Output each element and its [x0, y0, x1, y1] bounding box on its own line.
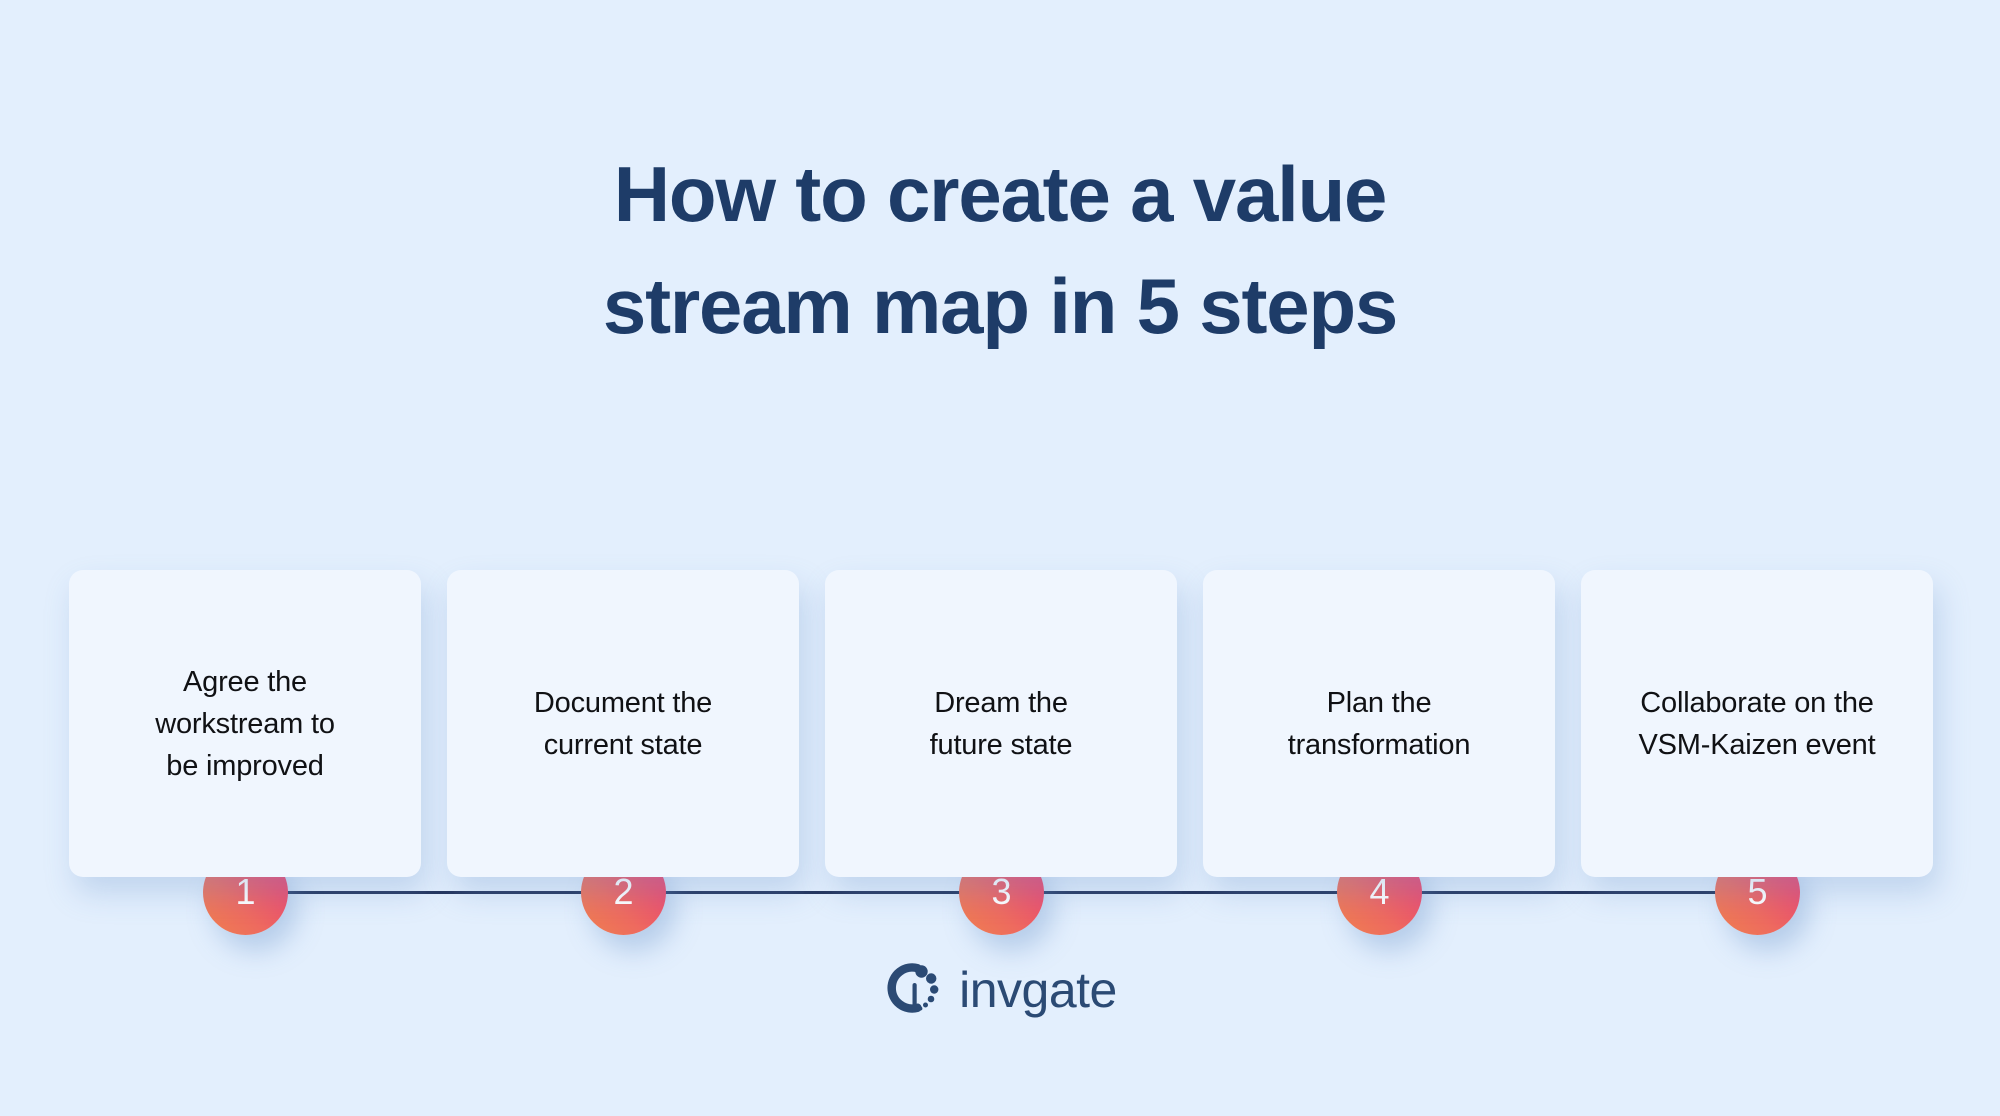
step-card-4-line-1: Plan the: [1327, 687, 1432, 719]
page-title: How to create a value stream map in 5 st…: [0, 138, 2000, 362]
step-card-5-text: Collaborate on the VSM-Kaizen event: [1639, 682, 1876, 766]
step-card-1[interactable]: Agree the workstream to be improved: [69, 570, 421, 877]
step-card-5-line-2: VSM-Kaizen event: [1639, 729, 1876, 761]
step-card-3-line-2: future state: [930, 729, 1073, 761]
step-card-1-line-1: Agree the: [183, 666, 307, 698]
step-card-1-line-2: workstream to: [155, 708, 335, 740]
step-card-2-line-1: Document the: [534, 687, 712, 719]
step-cards: Agree the workstream to be improved Docu…: [0, 570, 2000, 880]
step-card-5-line-1: Collaborate on the: [1640, 687, 1873, 719]
step-card-4-text: Plan the transformation: [1288, 682, 1471, 766]
step-card-1-text: Agree the workstream to be improved: [155, 661, 335, 787]
brand-name: invgate: [959, 965, 1117, 1015]
step-card-5[interactable]: Collaborate on the VSM-Kaizen event: [1581, 570, 1933, 877]
page-title-line-1: How to create a value: [0, 138, 2000, 250]
footer-logo: invgate: [0, 958, 2000, 1018]
step-card-4-line-2: transformation: [1288, 729, 1471, 761]
step-card-3-line-1: Dream the: [934, 687, 1068, 719]
steps-timeline: 1 2 3 4 5: [0, 418, 2000, 536]
step-card-2[interactable]: Document the current state: [447, 570, 799, 877]
step-card-3-text: Dream the future state: [930, 682, 1073, 766]
step-card-2-line-2: current state: [544, 729, 703, 761]
invgate-logo-icon: [883, 958, 943, 1018]
page-title-line-2: stream map in 5 steps: [0, 250, 2000, 362]
step-card-2-text: Document the current state: [534, 682, 712, 766]
step-card-1-line-3: be improved: [166, 750, 323, 782]
step-card-4[interactable]: Plan the transformation: [1203, 570, 1555, 877]
step-card-3[interactable]: Dream the future state: [825, 570, 1177, 877]
